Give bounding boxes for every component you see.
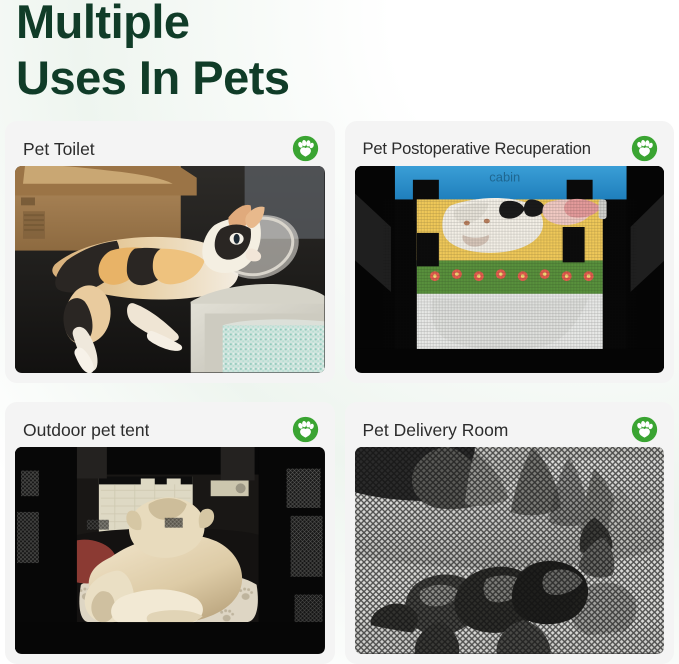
card-title: Outdoor pet tent	[23, 420, 149, 440]
paw-print-icon	[292, 416, 319, 443]
feature-card-pet-toilet[interactable]: Pet Toilet	[5, 121, 335, 383]
page-title: Multiple Uses In Pets	[16, 0, 536, 106]
card-header: Pet Delivery Room	[355, 412, 665, 447]
card-photo	[355, 447, 665, 654]
card-photo	[15, 447, 325, 654]
card-photo: cabin	[355, 166, 665, 373]
card-title: Pet Postoperative Recuperation	[363, 139, 591, 159]
paw-print-icon	[631, 416, 658, 443]
svg-text:cabin: cabin	[489, 170, 520, 185]
feature-card-pet-postoperative-recuperation[interactable]: Pet Postoperative Recuperation	[345, 121, 675, 383]
page-background: Multiple Uses In Pets Pet Toilet	[0, 0, 679, 664]
card-header: Outdoor pet tent	[15, 412, 325, 447]
paw-print-icon	[631, 135, 658, 162]
card-photo	[15, 166, 325, 373]
card-title: Pet Toilet	[23, 139, 95, 159]
paw-print-icon	[292, 135, 319, 162]
feature-card-grid: Pet Toilet	[5, 121, 674, 664]
card-header: Pet Toilet	[15, 131, 325, 166]
card-header: Pet Postoperative Recuperation	[355, 131, 665, 166]
card-title: Pet Delivery Room	[363, 420, 509, 440]
feature-card-pet-delivery-room[interactable]: Pet Delivery Room	[345, 402, 675, 664]
feature-card-outdoor-pet-tent[interactable]: Outdoor pet tent	[5, 402, 335, 664]
